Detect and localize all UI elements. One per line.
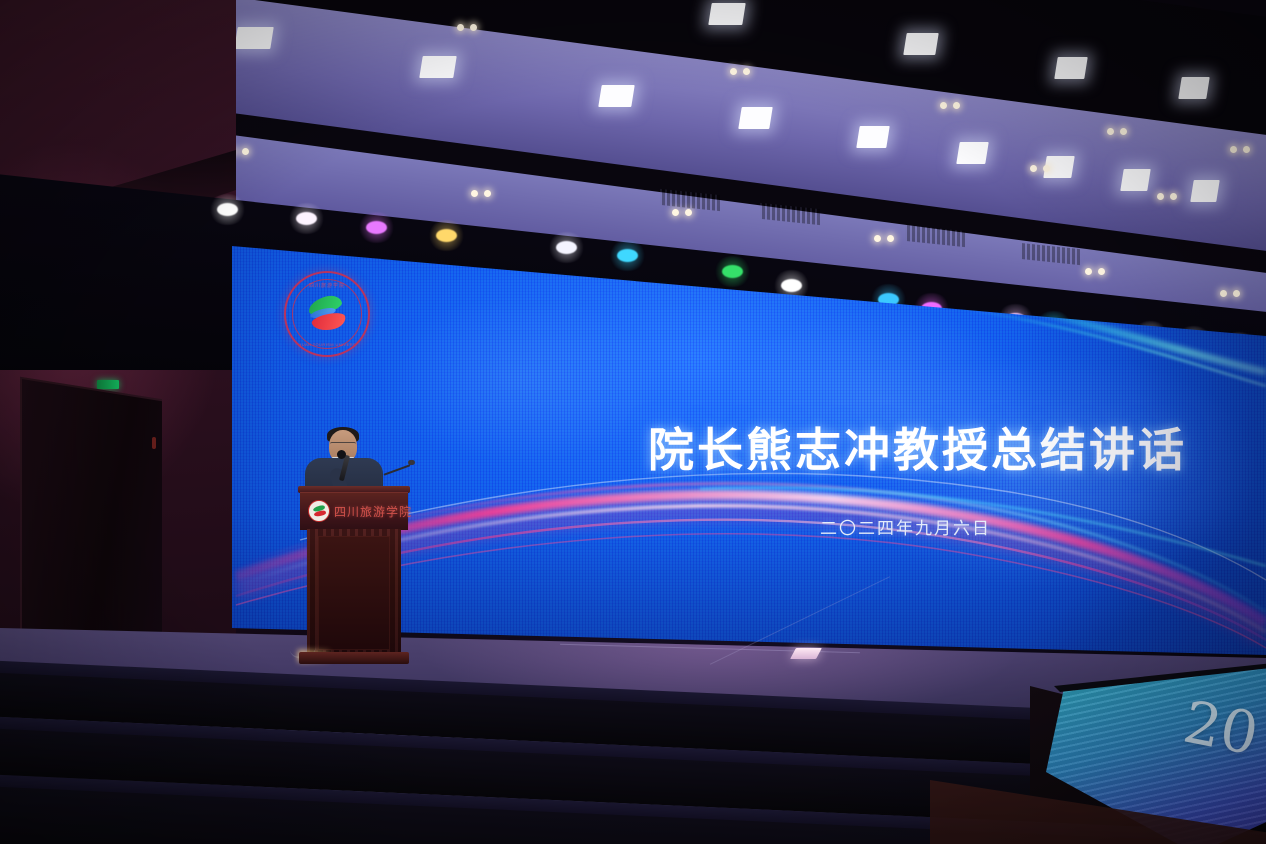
auditorium-stage-photo: 四川旅游学院 SICHUAN TOURISM UNIVERSITY 院长熊志冲教… xyxy=(0,0,1266,844)
ceiling-downlight-pair-8 xyxy=(1230,146,1252,153)
ceiling-panel-light-6 xyxy=(956,142,988,164)
ceiling-panel-light-3 xyxy=(598,85,634,107)
ceiling-panel-light-10 xyxy=(708,3,745,25)
speaker-glasses-icon xyxy=(330,442,356,449)
truss-rig-2 xyxy=(760,203,820,225)
handheld-microphone-icon xyxy=(337,450,346,459)
ceiling-panel-light-4 xyxy=(738,107,772,129)
ceiling-downlight-pair-3 xyxy=(730,68,752,75)
ceiling-panel-light-5 xyxy=(856,126,889,148)
ceiling-panel-light-12 xyxy=(1054,57,1087,79)
ceiling-downlight-pair-6 xyxy=(1107,128,1129,135)
ceiling-panel-light-13 xyxy=(1178,77,1209,99)
podium-institution-label: 四川旅游学院 xyxy=(334,503,412,520)
ceiling-downlight-pair-1 xyxy=(457,24,479,31)
stage-left-doorway xyxy=(20,377,162,671)
ceiling-panel-light-2 xyxy=(419,56,456,78)
door-handle xyxy=(152,437,156,449)
spotlight-magenta-1 xyxy=(366,221,387,234)
podium-and-speaker: 四川旅游学院 xyxy=(288,424,418,674)
truss-rig-3 xyxy=(905,225,965,247)
boom-microphone-arm xyxy=(384,464,411,475)
exit-sign-icon xyxy=(97,380,119,389)
side-screen-text: 20 xyxy=(1178,688,1263,769)
spotlight-green-1 xyxy=(722,265,743,278)
spotlight-white-1 xyxy=(217,203,238,216)
truss-rig-4 xyxy=(1020,243,1080,265)
boom-microphone-head xyxy=(408,460,415,465)
truss-rig-1 xyxy=(660,189,720,211)
ceiling-downlight-pair-5 xyxy=(940,102,962,109)
podium-base xyxy=(299,652,409,664)
ceiling-panel-light-11 xyxy=(903,33,938,55)
spotlight-white-4 xyxy=(781,279,802,292)
podium-inset-panel xyxy=(318,536,390,650)
spotlight-cyan-1 xyxy=(617,249,638,262)
spotlight-white-2 xyxy=(296,212,317,225)
podium-crest-icon xyxy=(308,500,330,522)
spotlight-white-3 xyxy=(556,241,577,254)
spotlight-amber-1 xyxy=(436,229,457,242)
ceiling-panel-light-1 xyxy=(234,27,273,49)
